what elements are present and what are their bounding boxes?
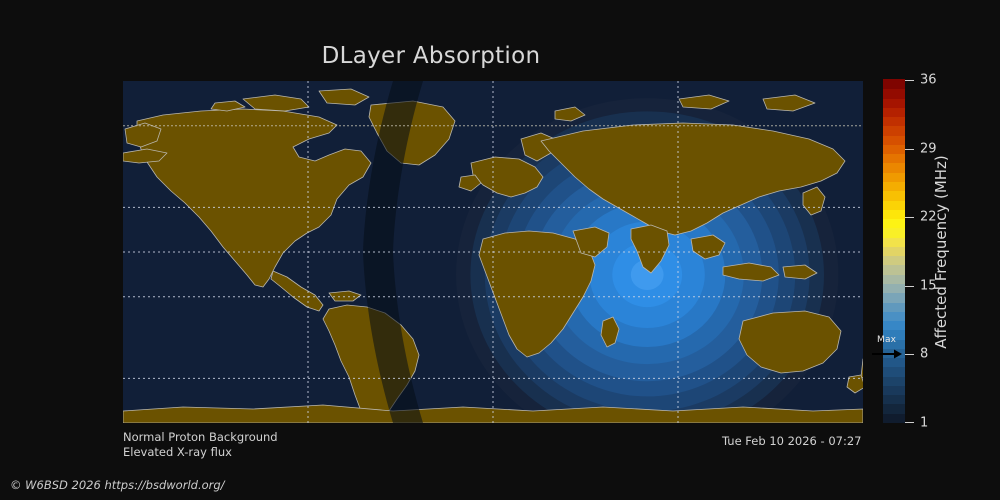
colorbar-tick-label: 1 (920, 416, 928, 431)
colorbar-segment (883, 89, 905, 99)
colorbar-segment (883, 367, 905, 377)
colorbar-segment (883, 413, 905, 423)
colorbar-segment (883, 172, 905, 182)
colorbar-segment (883, 385, 905, 395)
map-canvas (123, 81, 863, 423)
colorbar-axis-label-text: Affected Frequency (MHz) (932, 155, 950, 349)
colorbar-segment (883, 200, 905, 210)
colorbar-segment (883, 293, 905, 303)
copyright-notice: © W6BSD 2026 https://bsdworld.org/ (10, 478, 225, 492)
colorbar-tick (905, 286, 914, 287)
colorbar-segment (883, 246, 905, 256)
colorbar-segment (883, 274, 905, 284)
colorbar-segment (883, 181, 905, 191)
colorbar-segment (883, 163, 905, 173)
colorbar-segment (883, 126, 905, 136)
colorbar-segment (883, 404, 905, 414)
colorbar-segment (883, 218, 905, 228)
max-marker: Max (867, 335, 907, 361)
colorbar-segment (883, 79, 905, 89)
colorbar-tick (905, 149, 914, 150)
colorbar-axis-label: Affected Frequency (MHz) (929, 80, 953, 423)
colorbar-segment (883, 98, 905, 108)
colorbar-segment (883, 302, 905, 312)
max-arrow-icon (872, 349, 902, 359)
colorbar-segment (883, 395, 905, 405)
colorbar-segment (883, 117, 905, 127)
colorbar-segment (883, 144, 905, 154)
world-map[interactable] (123, 81, 863, 423)
colorbar-tick (905, 80, 914, 81)
dlayer-absorption-map-view: DLayer Absorption (0, 0, 1000, 500)
colorbar-segment (883, 320, 905, 330)
colorbar-tick-label: 8 (920, 347, 928, 362)
colorbar-segment (883, 135, 905, 145)
xray-flux-note: Elevated X-ray flux (123, 445, 232, 459)
colorbar-segment (883, 209, 905, 219)
colorbar-segment (883, 154, 905, 164)
colorbar-segment (883, 376, 905, 386)
colorbar-segment (883, 237, 905, 247)
colorbar-tick (905, 217, 914, 218)
max-marker-label: Max (877, 335, 896, 345)
colorbar-segment (883, 191, 905, 201)
colorbar-segment (883, 311, 905, 321)
colorbar-segment (883, 283, 905, 293)
colorbar-segment (883, 107, 905, 117)
colorbar-gradient (883, 80, 905, 423)
colorbar-tick (905, 422, 914, 423)
colorbar[interactable] (883, 80, 905, 423)
colorbar-segment (883, 265, 905, 275)
timestamp: Tue Feb 10 2026 - 07:27 (722, 434, 861, 448)
colorbar-segment (883, 256, 905, 266)
colorbar-segment (883, 228, 905, 238)
page-title: DLayer Absorption (0, 43, 862, 69)
proton-background-note: Normal Proton Background (123, 430, 278, 444)
